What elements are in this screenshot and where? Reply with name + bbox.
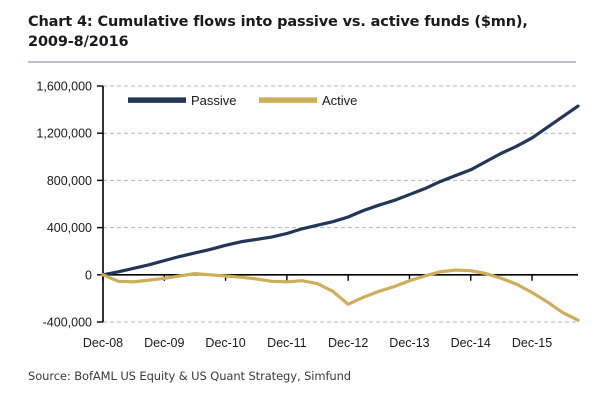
x-axis-tick-label: Dec-12	[328, 336, 368, 350]
x-axis-tick-label: Dec-11	[267, 336, 306, 350]
y-axis-tick-label: 800,000	[47, 174, 92, 188]
x-axis-tick-labels: Dec-08Dec-09Dec-10Dec-11Dec-12Dec-13Dec-…	[83, 336, 552, 350]
x-axis-tick-label: Dec-15	[512, 336, 552, 350]
source-note: Source: BofAML US Equity & US Quant Stra…	[28, 369, 351, 383]
y-axis-tick-label: 400,000	[47, 221, 92, 235]
chart-legend: PassiveActive	[128, 93, 357, 108]
legend-label-passive: Passive	[191, 93, 237, 108]
y-axis-tick-label: -400,000	[43, 316, 92, 330]
x-axis-tick-label: Dec-13	[389, 336, 429, 350]
y-axis-tick-label: 1,200,000	[36, 127, 92, 141]
y-axis-tick-labels: -400,0000400,000800,0001,200,0001,600,00…	[36, 80, 92, 330]
chart-figure: Chart 4: Cumulative flows into passive v…	[0, 0, 600, 407]
x-axis-tick-label: Dec-09	[144, 336, 184, 350]
y-axis-tick-label: 1,600,000	[36, 80, 92, 94]
series-line-active	[103, 270, 578, 320]
gridlines	[103, 86, 578, 322]
plot-area: -400,0000400,000800,0001,200,0001,600,00…	[0, 62, 600, 358]
series-line-passive	[103, 106, 578, 275]
x-axis-tick-label: Dec-14	[451, 336, 491, 350]
x-axis-tick-label: Dec-10	[205, 336, 245, 350]
page-title: Chart 4: Cumulative flows into passive v…	[28, 12, 576, 52]
axis-lines	[97, 86, 578, 322]
y-axis-tick-label: 0	[85, 268, 92, 282]
data-series	[103, 106, 578, 320]
legend-label-active: Active	[322, 93, 357, 108]
x-axis-tick-label: Dec-08	[83, 336, 123, 350]
line-chart-svg: -400,0000400,000800,0001,200,0001,600,00…	[0, 62, 600, 358]
